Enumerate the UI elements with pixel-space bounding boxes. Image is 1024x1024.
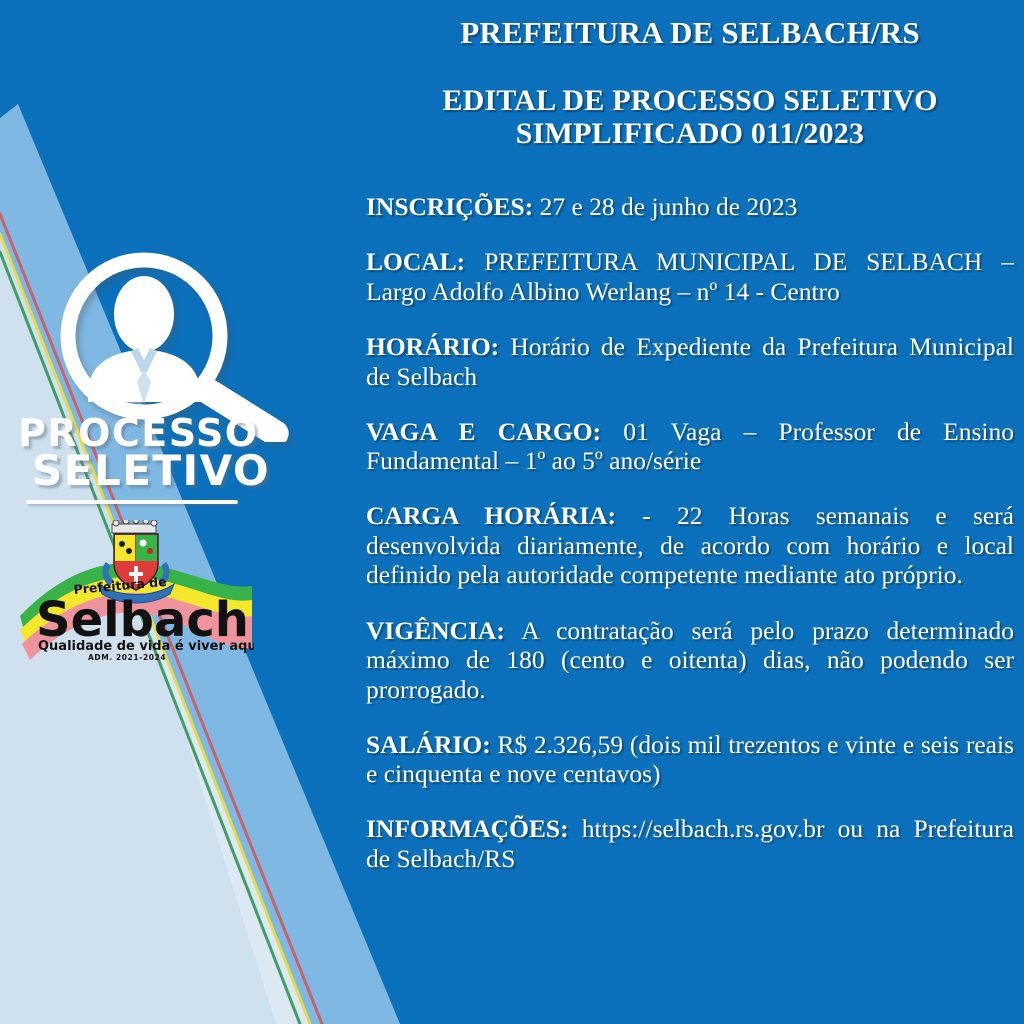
section-label: SALÁRIO: — [366, 730, 491, 759]
wordmark-underline — [26, 500, 238, 504]
content-column: PREFEITURA DE SELBACH/RS EDITAL DE PROCE… — [366, 0, 1014, 1024]
arms-quarter-yellow — [115, 535, 135, 561]
title-line-3: SIMPLIFICADO 011/2023 — [366, 118, 1014, 150]
selbach-city-logo: Prefeitura de Selbach Qualidade de vida … — [18, 520, 254, 662]
wordmark-line-2: SELETIVO — [8, 451, 278, 491]
section-label: INSCRIÇÕES: — [366, 192, 533, 221]
section-local: LOCAL: PREFEITURA MUNICIPAL DE SELBACH –… — [366, 247, 1014, 306]
section-label: VIGÊNCIA: — [366, 616, 505, 645]
sections-list: INSCRIÇÕES: 27 e 28 de junho de 2023 LOC… — [366, 192, 1014, 873]
logo-slogan-text: Qualidade de vida é viver aqui! — [38, 639, 254, 654]
section-informacoes: INFORMAÇÕES: https://selbach.rs.gov.br o… — [366, 814, 1014, 873]
section-value: 27 e 28 de junho de 2023 — [533, 192, 797, 221]
section-horario: HORÁRIO: Horário de Expediente da Prefei… — [366, 332, 1014, 391]
section-label: HORÁRIO: — [366, 332, 499, 361]
person-head — [114, 276, 174, 352]
arms-quarter-green — [136, 535, 157, 561]
section-label: VAGA E CARGO: — [366, 417, 601, 446]
section-label: CARGA HORÁRIA: — [366, 501, 616, 530]
arms-crown — [112, 524, 156, 533]
section-carga-horaria: CARGA HORÁRIA: - 22 Horas semanais e ser… — [366, 501, 1014, 590]
title-line-1: PREFEITURA DE SELBACH/RS — [366, 16, 1014, 49]
section-salario: SALÁRIO: R$ 2.326,59 (dois mil trezentos… — [366, 730, 1014, 789]
section-vigencia: VIGÊNCIA: A contratação será pelo prazo … — [366, 616, 1014, 705]
section-inscricoes: INSCRIÇÕES: 27 e 28 de junho de 2023 — [366, 192, 1014, 222]
processo-seletivo-wordmark: PROCESSO SELETIVO — [8, 415, 278, 492]
title-line-2: EDITAL DE PROCESSO SELETIVO — [366, 85, 1014, 117]
section-label: INFORMAÇÕES: — [366, 814, 569, 843]
logo-administration-text: ADM. 2021-2024 — [88, 653, 166, 662]
section-label: LOCAL: — [366, 247, 465, 276]
poster-title-block: PREFEITURA DE SELBACH/RS EDITAL DE PROCE… — [366, 0, 1014, 150]
poster-canvas: PROCESSO SELETIVO — [0, 0, 1024, 1024]
section-vaga-e-cargo: VAGA E CARGO: 01 Vaga – Professor de Ens… — [366, 417, 1014, 476]
